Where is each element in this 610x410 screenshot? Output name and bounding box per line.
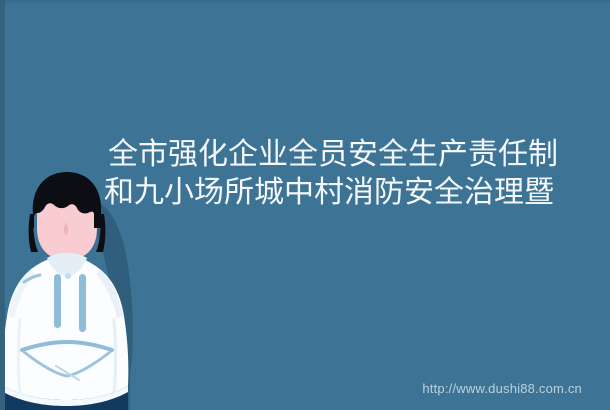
sleeve-seam-left [19,320,21,392]
headline-line-1: 全市强化企业全员安全生产责任制 [104,136,582,174]
headline-line-2: 和九小场所城中村消防安全治理暨 [104,174,582,212]
left-edge-strip [0,0,5,410]
promo-banner: 全市强化企业全员安全生产责任制 和九小场所城中村消防安全治理暨 http://w… [0,0,610,410]
sleeve-seam-right [114,320,116,392]
headline: 全市强化企业全员安全生产责任制 和九小场所城中村消防安全治理暨 [104,136,582,212]
top-edge-strip [0,0,610,3]
drawstring-left [54,274,61,328]
hoodie-body [3,256,129,410]
drawstring-right [79,274,86,332]
drawstring-eyelet [65,273,71,279]
watermark-url: http://www.dushi88.com.cn [422,381,582,396]
